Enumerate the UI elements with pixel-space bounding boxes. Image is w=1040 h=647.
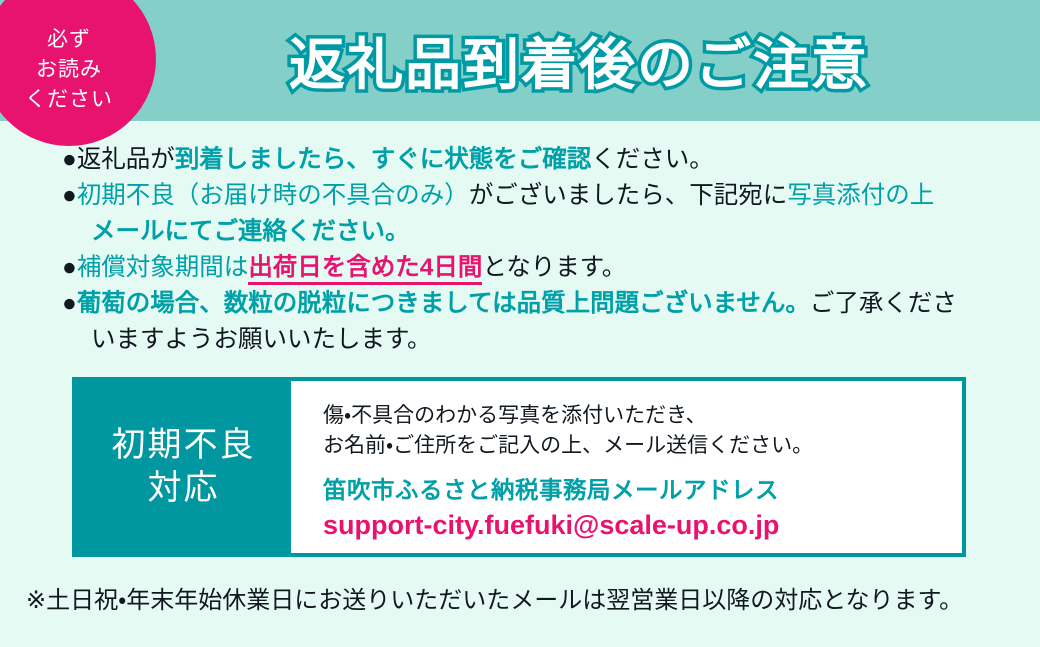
list-item: ●補償対象期間は出荷日を含めた4日間となります。 bbox=[62, 250, 1032, 286]
initial-defect-content: 傷・不具合のわかる写真を添付いただき、 お名前・ご住所をご記入の上、メール送信く… bbox=[291, 381, 962, 553]
footer-note: ※土日祝・年末年始休業日にお送りいただいたメールは翌営業日以降の対応となります。 bbox=[26, 580, 963, 615]
notice-segment-highlight: 出荷日を含めた4日間 bbox=[248, 254, 482, 285]
notice-segment: 写真添付の上 bbox=[787, 182, 934, 209]
list-item: ●初期不良（お届け時の不具合のみ）がございましたら、下記宛に写真添付の上 bbox=[62, 178, 1032, 214]
initial-defect-label-line-2: 対応 bbox=[148, 467, 220, 510]
notice-segment: メールにてご連絡ください。 bbox=[91, 218, 410, 245]
bullet-marker: ● bbox=[62, 182, 77, 209]
notice-page: 返礼品到着後のご注意 必ず お読み ください ●返礼品が到着しましたら、すぐに状… bbox=[0, 0, 1040, 647]
badge-line-2: お読み bbox=[36, 55, 102, 85]
notice-segment: 返礼品が bbox=[77, 146, 175, 173]
instruction-line: 傷・不具合のわかる写真を添付いただき、 bbox=[323, 401, 962, 431]
notice-segment: ください。 bbox=[591, 146, 714, 173]
list-item-continuation: いますようお願いいたします。 bbox=[62, 322, 1032, 358]
notice-segment: 初期不良（お届け時の不具合のみ） bbox=[77, 182, 469, 209]
badge-line-3: ください bbox=[25, 85, 113, 115]
initial-defect-box: 初期不良 対応 傷・不具合のわかる写真を添付いただき、 お名前・ご住所をご記入の… bbox=[72, 377, 966, 557]
instruction-line: お名前・ご住所をご記入の上、メール送信ください。 bbox=[323, 431, 962, 461]
must-read-badge: 必ず お読み ください bbox=[0, 0, 156, 146]
notice-segment: 到着しましたら、すぐに状態をご確認 bbox=[175, 146, 592, 173]
notice-list: ●返礼品が到着しましたら、すぐに状態をご確認ください。 ●初期不良（お届け時の不… bbox=[62, 142, 1032, 358]
bullet-marker: ● bbox=[62, 290, 77, 317]
notice-segment: 補償対象期間は bbox=[77, 254, 249, 281]
notice-segment: ご了承くださ bbox=[810, 290, 957, 317]
list-item-continuation: メールにてご連絡ください。 bbox=[62, 214, 1032, 250]
page-title: 返礼品到着後のご注意 bbox=[289, 20, 869, 101]
bullet-marker: ● bbox=[62, 146, 77, 173]
support-email[interactable]: support-city.fuefuki@scale-up.co.jp bbox=[323, 510, 962, 541]
organization-label: 笛吹市ふるさと納税事務局メールアドレス bbox=[323, 471, 962, 505]
initial-defect-label-line-1: 初期不良 bbox=[112, 424, 256, 467]
page-title-wrapper: 返礼品到着後のご注意 bbox=[0, 0, 1040, 121]
notice-segment: がございましたら、下記宛に bbox=[469, 182, 788, 209]
notice-segment: いますようお願いいたします。 bbox=[91, 326, 432, 353]
bullet-marker: ● bbox=[62, 254, 77, 281]
badge-line-1: 必ず bbox=[47, 25, 91, 55]
notice-segment: 葡萄の場合、数粒の脱粒につきましては品質上問題ございません。 bbox=[77, 290, 810, 317]
notice-segment: となります。 bbox=[482, 254, 626, 281]
initial-defect-label: 初期不良 対応 bbox=[76, 381, 291, 553]
list-item: ●返礼品が到着しましたら、すぐに状態をご確認ください。 bbox=[62, 142, 1032, 178]
list-item: ●葡萄の場合、数粒の脱粒につきましては品質上問題ございません。ご了承くださ bbox=[62, 286, 1032, 322]
